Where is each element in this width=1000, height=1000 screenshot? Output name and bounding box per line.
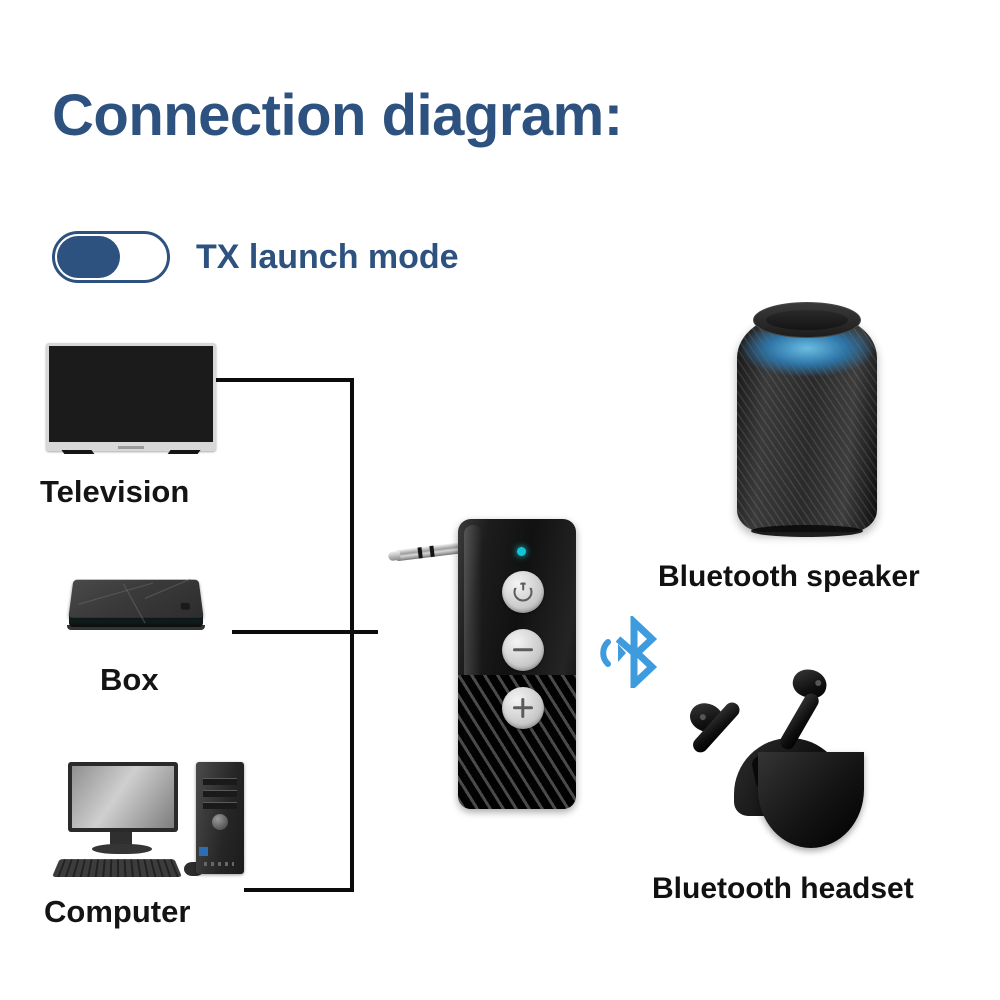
wire-trunk: [350, 378, 354, 892]
speaker-top-plate: [753, 302, 861, 338]
set-top-box-icon: [65, 578, 205, 638]
label-box: Box: [100, 662, 159, 698]
status-led: [517, 547, 526, 556]
pc-tower: [196, 762, 244, 874]
jack-tip: [388, 551, 401, 561]
tv-leg-right: [157, 450, 200, 468]
bluetooth-icon: [594, 616, 666, 688]
adapter-body: [458, 519, 576, 809]
box-indicator: [180, 603, 190, 610]
case-lid: [758, 752, 864, 848]
television-icon: [46, 343, 216, 451]
speaker-base: [751, 525, 863, 537]
label-bluetooth-speaker: Bluetooth speaker: [658, 560, 920, 594]
wire-computer: [244, 888, 354, 892]
label-computer: Computer: [44, 894, 190, 930]
tv-brand-mark: [118, 446, 144, 449]
earbuds-case-icon: [700, 660, 890, 850]
monitor-screen: [72, 766, 174, 828]
tower-drive-bay-2: [203, 790, 237, 797]
monitor-base: [92, 844, 152, 854]
volume-up-button[interactable]: [502, 687, 544, 729]
box-facet-2: [123, 583, 146, 623]
monitor: [68, 762, 178, 832]
bluetooth-transmitter-adapter: [388, 519, 578, 809]
toggle-knob: [57, 236, 120, 278]
tv-screen: [49, 346, 213, 442]
tower-drive-bay-3: [203, 802, 237, 809]
tx-mode-label: TX launch mode: [196, 238, 459, 277]
power-icon: [514, 583, 533, 602]
keyboard: [52, 859, 182, 877]
plus-icon-v: [521, 698, 524, 718]
page-title: Connection diagram:: [52, 82, 623, 149]
tv-bezel: [46, 343, 216, 451]
tv-leg-left: [61, 450, 104, 468]
volume-down-button[interactable]: [502, 629, 544, 671]
tower-drive-bay-1: [203, 778, 237, 785]
speaker-body: [737, 314, 877, 532]
tower-power-button: [212, 814, 228, 830]
smart-speaker-icon: [737, 302, 877, 534]
tower-ports: [204, 862, 234, 866]
label-television: Television: [40, 474, 189, 510]
box-facet-1: [78, 583, 153, 605]
label-bluetooth-headset: Bluetooth headset: [652, 872, 914, 906]
wire-television: [216, 378, 354, 382]
desktop-computer-icon: [46, 762, 246, 884]
tower-badge: [199, 847, 208, 856]
tx-mode-row: TX launch mode: [52, 231, 459, 283]
tx-mode-toggle[interactable]: [52, 231, 170, 283]
minus-icon: [513, 648, 533, 651]
speaker-top-inner: [766, 310, 848, 330]
box-top: [68, 580, 203, 618]
wire-box-to-adapter: [232, 630, 378, 634]
diagram-canvas: Connection diagram: TX launch mode Telev…: [0, 0, 1000, 1000]
power-button[interactable]: [502, 571, 544, 613]
